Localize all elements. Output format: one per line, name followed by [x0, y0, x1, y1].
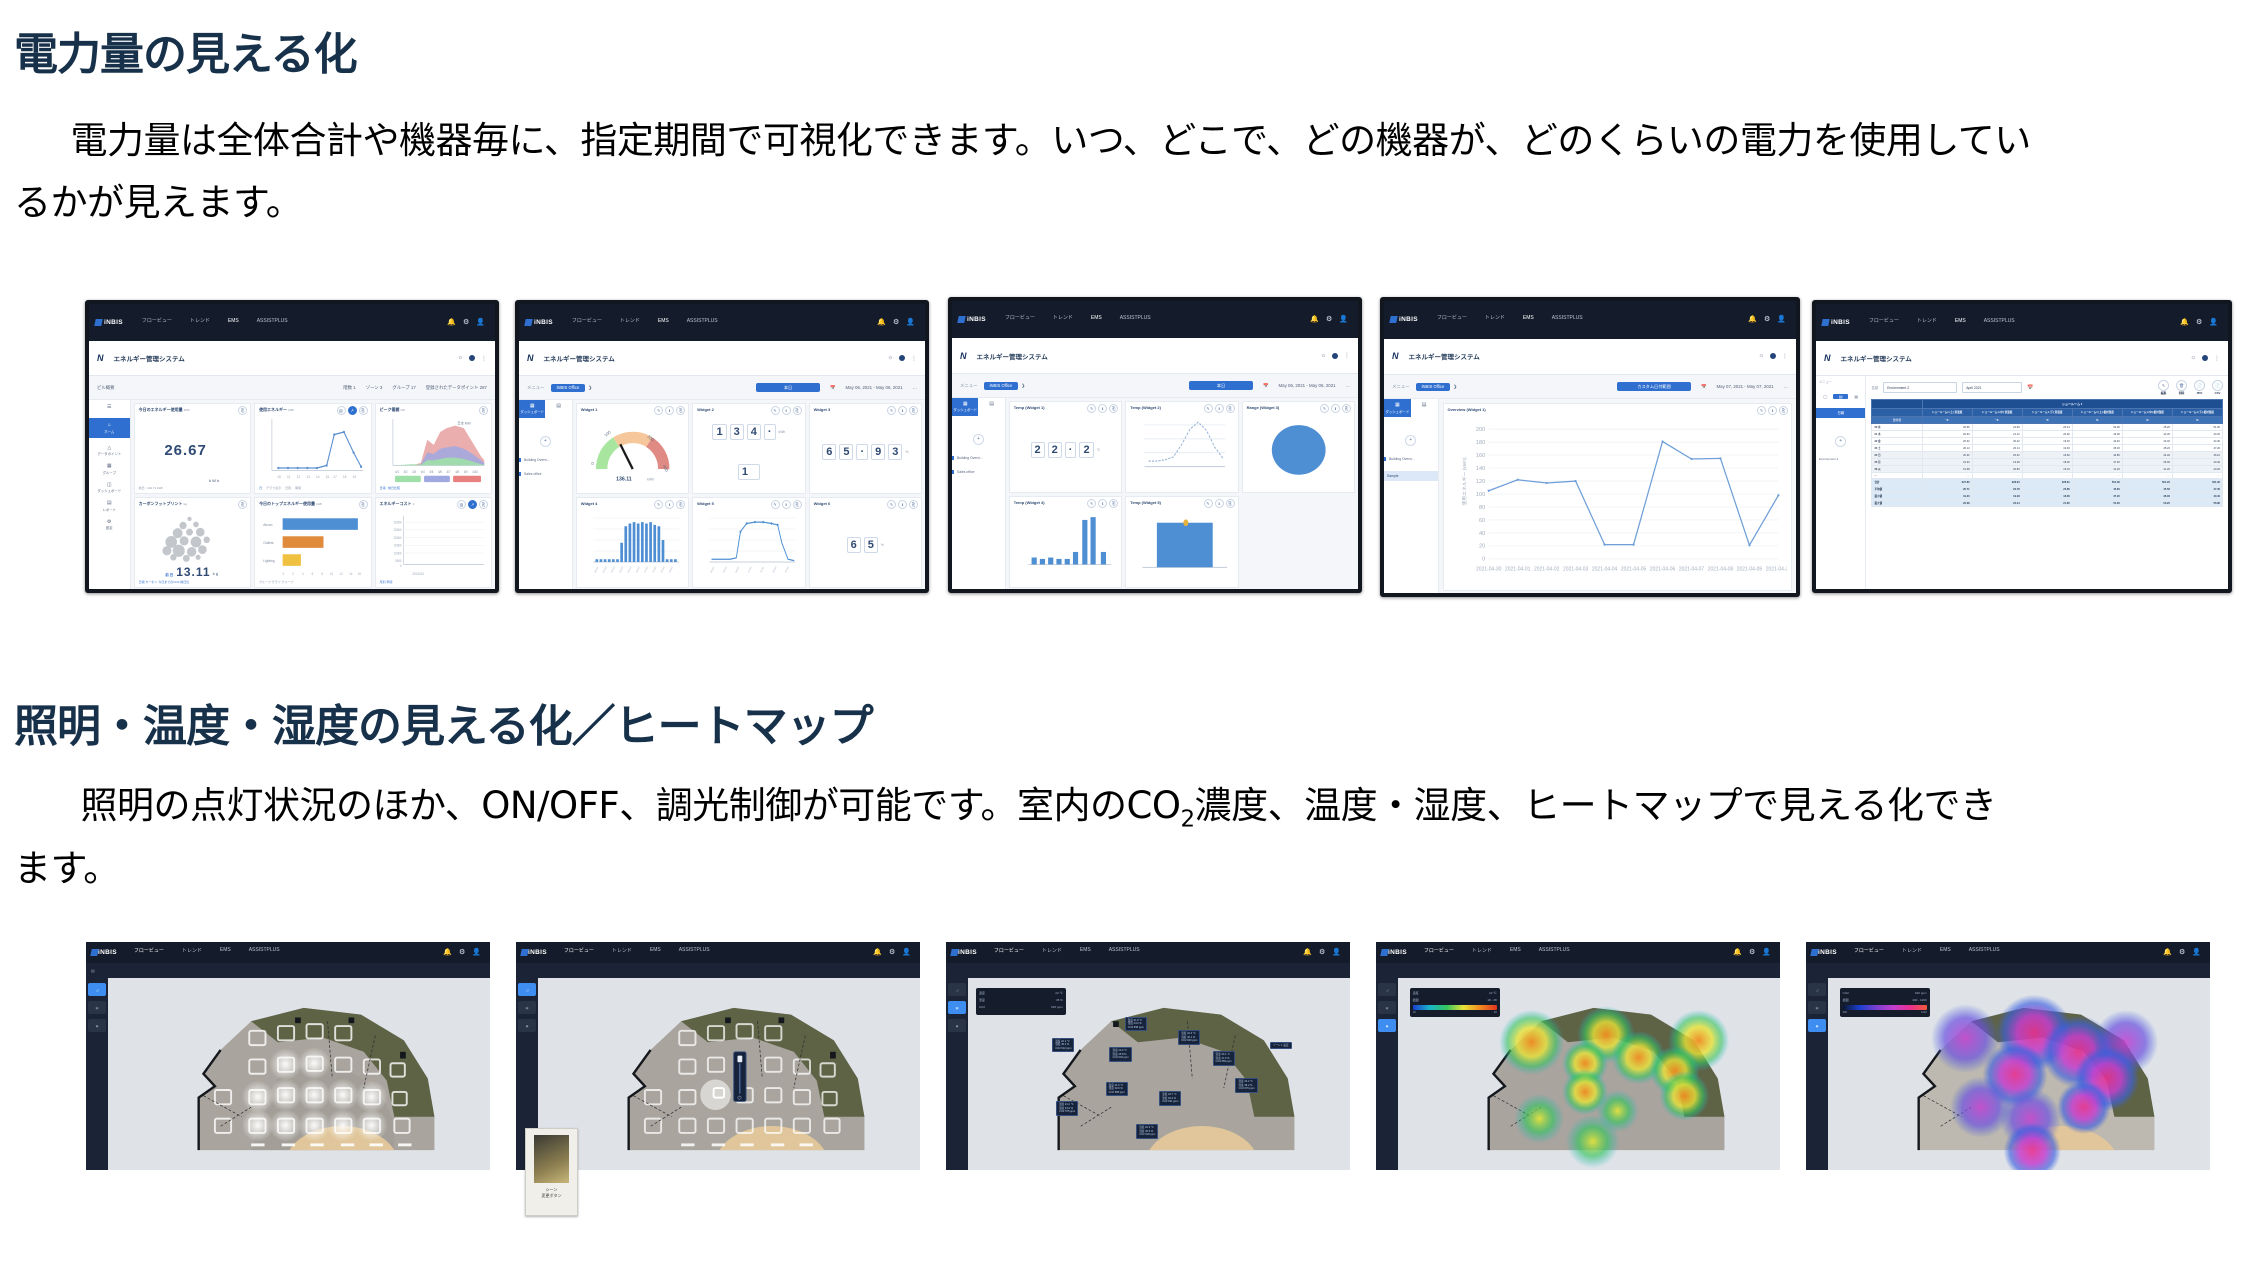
sidebar-item-sales-office[interactable]: Sales office [519, 472, 572, 476]
brand-mark-icon [1389, 316, 1397, 323]
nav-tab-flowview[interactable]: フロービュー [142, 317, 172, 328]
bell-icon[interactable]: 🔔 [877, 319, 886, 326]
sidebar-item-dashboard[interactable]: ◫ダッシュボード [97, 482, 121, 494]
rail-button-heatmap[interactable]: ◉ [948, 1019, 965, 1032]
calendar-icon[interactable]: 📅 [1263, 383, 1268, 389]
sidebar-item-menu[interactable]: ☰ [107, 404, 111, 411]
nav-tab-trend[interactable]: トレンド [1472, 947, 1492, 958]
sidebar-item-group[interactable]: ▦グループ [103, 463, 116, 475]
nav-tab-assistplus[interactable]: ASSISTPLUS [257, 318, 288, 328]
export-icon[interactable]: ⎘ [1226, 499, 1235, 508]
widget-5-line-chart: 00:0004:00 08:0012:00 16:0020:00 23:00 [697, 507, 800, 584]
sidebar-tab-dashboard[interactable]: ▦ダッシュボード [1384, 399, 1411, 417]
env-widget-5[interactable]: Temp (Widget 5) ✎ℹ⎘ [1125, 496, 1238, 588]
filter-bar: メニュー iNBIS Office ❯ 本日 📅 May 06, 2021 - … [519, 376, 925, 400]
rail-button-heatmap[interactable]: ◉ [1808, 1019, 1825, 1032]
sensor-tooltip[interactable]: 温度 21.8 ℃湿度 44.6 %CO2 598 ppm [1125, 1017, 1147, 1032]
rail-button-lighting[interactable]: ◿ [948, 983, 965, 996]
table-row: 25 月19.3319.2818.3637.2036.0040.40 [1872, 459, 2223, 466]
nav-tab-ems[interactable]: EMS [1523, 315, 1534, 325]
gear-icon[interactable]: ⚙ [2196, 319, 2202, 326]
sidebar-item-sales-office[interactable]: Sales office [952, 470, 1005, 474]
nav-tab-assistplus[interactable]: ASSISTPLUS [1539, 947, 1570, 957]
sidebar-tab-dashboard[interactable]: ▦ダッシュボード [952, 398, 978, 416]
sensor-tooltip[interactable]: 温度 22.3 ℃湿度 45.5 %CO2 618 ppm [1136, 1124, 1158, 1139]
nav-tab-assistplus[interactable]: ASSISTPLUS [249, 947, 280, 957]
card-top-energy-users[interactable]: 今日のトップエネルギー使用量 kWh ⎘ AirconOutletsLighti… [254, 497, 371, 588]
rail-button-sensors[interactable]: ▤ [948, 1001, 965, 1014]
section-2-body-line-1: 照明の点灯状況のほか、ON/OFF、調光制御が可能です。室内のCO2濃度、温度・… [44, 775, 1996, 850]
sidebar-item-building-overview[interactable]: Building Overvi... [1384, 457, 1438, 461]
bar-chart-icon[interactable]: ▧ [337, 406, 346, 415]
sensor-tooltip[interactable]: 温度 21.6 ℃湿度 43.9 %CO2 588 ppm [1106, 1082, 1128, 1097]
export-icon[interactable]: ⎘ [1342, 404, 1351, 413]
headset-icon[interactable] [1332, 353, 1338, 359]
period-chip[interactable]: 本日 [1189, 381, 1253, 390]
nav-tab-flowview[interactable]: フロービュー [994, 947, 1024, 958]
export-icon[interactable]: ⎘ [359, 406, 368, 415]
svg-text:2021/04: 2021/04 [412, 572, 424, 576]
nav-tab-trend[interactable]: トレンド [620, 317, 640, 328]
gear-icon[interactable]: ⚙ [893, 319, 899, 326]
export-icon[interactable]: ⎘ [1109, 404, 1118, 413]
kebab-icon[interactable]: ⋮ [911, 355, 917, 362]
nav-tab-ems[interactable]: EMS [1080, 947, 1091, 957]
floor-plan-canvas[interactable] [108, 978, 490, 1170]
widget-4[interactable]: Widget 4 ✎ℹ⎘ [576, 497, 689, 588]
info-icon[interactable]: ℹ [665, 500, 674, 509]
sensor-tooltip[interactable]: ゾーン 1 設定 [1270, 1042, 1292, 1050]
stat-zones: ゾーン 3 [366, 385, 383, 391]
svg-text:20000: 20000 [393, 536, 401, 540]
export-icon[interactable]: ⎘ [676, 500, 685, 509]
sidebar-tab-saved[interactable]: ▤ [545, 400, 571, 418]
nav-tab-ems[interactable]: EMS [1955, 318, 1966, 328]
svg-text:4/4: 4/4 [420, 470, 424, 474]
info-icon[interactable]: ℹ [898, 500, 907, 509]
user-icon[interactable]: 👤 [1762, 949, 1771, 956]
legend-key: 範囲 [1843, 998, 1849, 1002]
gear-icon[interactable]: ⚙ [1326, 316, 1332, 323]
line-chart-icon[interactable]: ↗ [348, 406, 357, 415]
widget-3[interactable]: Widget 3 ✎ℹ⎘ 6 5 · 9 3 % [809, 403, 922, 494]
svg-text:0: 0 [399, 564, 401, 568]
nav-tab-ems[interactable]: EMS [220, 947, 231, 957]
nav-tab-assistplus[interactable]: ASSISTPLUS [1969, 947, 2000, 957]
gear-icon[interactable]: ⚙ [1749, 949, 1755, 956]
digit: · [764, 424, 776, 440]
nav-tab-flowview[interactable]: フロービュー [564, 947, 594, 958]
svg-text:200: 200 [1475, 427, 1484, 433]
gear-icon[interactable]: ⚙ [889, 949, 895, 956]
chevron-right-icon[interactable]: ❯ [1021, 383, 1025, 389]
kebab-icon[interactable]: ⋮ [1344, 352, 1350, 359]
bell-icon[interactable]: ☼ [1759, 353, 1765, 359]
kebab-icon[interactable]: ⋮ [481, 355, 487, 362]
sensor-tooltip[interactable]: 温度 22.0 ℃湿度 45.8 %CO2 604 ppm [1109, 1047, 1131, 1062]
app-title: エネルギー管理システム [114, 353, 185, 363]
export-icon[interactable]: ⎘ [1109, 499, 1118, 508]
rail-button-sensors[interactable]: ▤ [518, 1001, 535, 1014]
nav-tab-assistplus[interactable]: ASSISTPLUS [1120, 315, 1151, 325]
rail-button-sensors[interactable]: ▤ [1378, 1001, 1395, 1014]
sensor-tooltip[interactable]: 温度 21.2 ℃湿度 43.0 %CO2 575 ppm [1056, 1101, 1078, 1116]
edit-icon[interactable]: ✎ [654, 406, 663, 415]
screenshot-heatmap-temperature[interactable]: iNBIS フロービュー トレンド EMS ASSISTPLUS 🔔⚙👤 ◿ ▤… [1376, 942, 1780, 1170]
edit-icon[interactable]: ✎ [654, 500, 663, 509]
sensor-tooltip[interactable]: 温度 22.1 ℃湿度 45.2 %CO2 612 ppm [1052, 1038, 1074, 1053]
sidebar-item-report[interactable]: ▤レポート [103, 500, 117, 512]
bell-icon[interactable]: 🔔 [873, 949, 882, 956]
legend-value: 400 - 1200 [1912, 998, 1926, 1002]
sidebar-tab-saved[interactable]: ▤ [1411, 399, 1438, 417]
pdf-button[interactable]: 📄PDF [2194, 380, 2205, 395]
nav-tab-ems[interactable]: EMS [658, 318, 669, 328]
report-tab-icon-2[interactable]: ▤ [1833, 394, 1847, 399]
widget-2[interactable]: Widget 2 ✎ℹ⎘ 1 3 4 · kWh 1 [692, 403, 805, 494]
edit-icon[interactable]: ✎ [1087, 499, 1096, 508]
nav-tab-flowview[interactable]: フロービュー [572, 317, 602, 328]
rail-button-lighting[interactable]: ◿ [518, 983, 535, 996]
edit-icon[interactable]: ✎ [771, 406, 780, 415]
bell-icon[interactable]: ☼ [2191, 355, 2197, 361]
card-today-energy[interactable]: 今日のエネルギー使用量 kWh ⎘ 26.67kWh 前日 : 134.71 k… [134, 403, 251, 494]
svg-text:18: 18 [343, 475, 347, 479]
report-table: ショールーム 1ショールーム1 (上) 室温度ショールーム1 (中) 室温度ショ… [1871, 399, 2223, 507]
env-widget-3[interactable]: Range (Widget 3) ✎ℹ⎘ [1242, 401, 1355, 493]
screenshot-lighting-plan[interactable]: iNBIS フロービュー トレンド EMS ASSISTPLUS 🔔⚙👤 ▤ ◿… [86, 942, 490, 1170]
more-icon[interactable]: … [1346, 383, 1350, 388]
edit-icon[interactable]: ✎ [887, 500, 896, 509]
calendar-icon[interactable]: 📅 [830, 385, 835, 391]
gear-icon[interactable]: ⚙ [463, 319, 469, 326]
floor-plan-canvas[interactable]: CO2620 ppm 範囲400 - 1200 400 1200 [1828, 978, 2210, 1170]
export-icon[interactable]: ⎘ [676, 406, 685, 415]
info-icon[interactable]: ℹ [1215, 499, 1224, 508]
info-icon[interactable]: ℹ [1098, 499, 1107, 508]
user-icon[interactable]: 👤 [1339, 316, 1348, 323]
nav-tab-assistplus[interactable]: ASSISTPLUS [1109, 947, 1140, 957]
nav-tab-flowview[interactable]: フロービュー [1854, 947, 1884, 958]
screenshot-overview-chart[interactable]: iNBIS フロービュー トレンド EMS ASSISTPLUS 🔔⚙👤 N エ… [1380, 297, 1800, 597]
nav-tab-flowview[interactable]: フロービュー [1005, 314, 1035, 325]
kebab-icon[interactable]: ⋮ [1782, 353, 1788, 360]
floor-plan-canvas[interactable]: 温度22 ℃ 範囲18 - 28 18 28 [1398, 978, 1780, 1170]
sidebar-item-building-overview[interactable]: Building Overvi... [519, 458, 572, 462]
bell-icon[interactable]: 🔔 [1303, 949, 1312, 956]
digit: 2 [1048, 442, 1062, 458]
user-icon[interactable]: 👤 [902, 949, 911, 956]
site-selector-chip[interactable]: iNBIS Office [551, 384, 586, 392]
user-icon[interactable]: 👤 [2209, 319, 2218, 326]
user-icon[interactable]: 👤 [472, 949, 481, 956]
gear-icon[interactable]: ⚙ [459, 949, 465, 956]
export-icon[interactable]: ⎘ [909, 406, 918, 415]
edit-button[interactable]: ✎編集 [2158, 380, 2169, 395]
rail-button-lighting[interactable]: ◿ [1378, 983, 1395, 996]
sensor-tooltip[interactable]: 温度 23.4 ℃湿度 48.2 %CO2 670 ppm [1235, 1078, 1257, 1093]
brand-text: iNBIS [1818, 949, 1837, 956]
brand-mark-icon [1380, 949, 1388, 956]
nav-tab-assistplus[interactable]: ASSISTPLUS [687, 318, 718, 328]
kebab-icon[interactable]: ⋮ [2214, 355, 2220, 362]
screenshot-sensor-values[interactable]: iNBIS フロービュー トレンド EMS ASSISTPLUS 🔔⚙👤 ◿ ▤… [946, 942, 1350, 1170]
headset-icon[interactable] [1770, 353, 1776, 359]
rail-button-sensors[interactable]: ▤ [88, 1001, 105, 1014]
card-peak-demand[interactable]: ピーク需要 kW ⎘ 日本 kWh 4/14/24/3 4/44/54/6 [375, 403, 492, 494]
export-icon[interactable]: ⎘ [1226, 404, 1235, 413]
env-widget-2[interactable]: Temp (Widget 2) ✎ℹ⎘ [1125, 401, 1238, 493]
card-footnote: 月別 年間 [380, 580, 393, 584]
sidebar-item-datapoint[interactable]: △データポイント [97, 445, 121, 457]
export-icon[interactable]: ⎘ [1779, 406, 1788, 415]
card-title: カーボンフットプリント kg [139, 501, 246, 507]
digit-unit: ℃ [1097, 448, 1101, 452]
sensor-tooltip[interactable]: 温度 23.1 ℃湿度 47.0 %CO2 655 ppm [1213, 1051, 1235, 1066]
widget-1-gauge: 0100 200400 136.11 kWh [581, 413, 684, 490]
gear-icon[interactable]: ⚙ [2179, 949, 2185, 956]
back-to-menu-link[interactable]: メニュー [1816, 376, 1865, 387]
nav-tab-ems[interactable]: EMS [1940, 947, 1951, 957]
scale-min: 18 [1413, 1011, 1416, 1014]
widget-6[interactable]: Widget 6 ✎ℹ⎘ 6 5 % [809, 497, 922, 588]
card-carbon-footprint[interactable]: カーボンフットプリント kg ⎘ 前日 [134, 497, 251, 588]
nav-tab-flowview[interactable]: フロービュー [1869, 317, 1899, 328]
edit-icon[interactable]: ✎ [1204, 404, 1213, 413]
rail-button-sensors[interactable]: ▤ [1808, 1001, 1825, 1014]
svg-text:6: 6 [312, 572, 314, 576]
bar-chart-icon[interactable]: ▧ [457, 500, 466, 509]
add-report-button[interactable]: + [1835, 436, 1846, 447]
csv-button[interactable]: 📄CSV [2212, 380, 2223, 395]
nav-tab-flowview[interactable]: フロービュー [1437, 314, 1467, 325]
sidebar-tab-dashboard[interactable]: ▦ダッシュボード [519, 400, 545, 418]
breadcrumb: ビル概要 [97, 385, 115, 391]
export-icon[interactable]: ⎘ [359, 500, 368, 509]
floor-plan-canvas[interactable]: 温度22 ℃ 湿度45 % CO2620 ppm 温度 22.1 ℃湿度 45.… [968, 978, 1350, 1170]
rail-button-heatmap[interactable]: ◉ [518, 1019, 535, 1032]
user-icon[interactable]: 👤 [906, 319, 915, 326]
gear-icon[interactable]: ⚙ [1764, 316, 1770, 323]
line-chart-icon[interactable]: ↗ [468, 500, 477, 509]
add-widget-button[interactable]: + [1405, 435, 1416, 446]
svg-text:2021-04-05: 2021-04-05 [1620, 567, 1646, 573]
nav-tab-trend[interactable]: トレンド [1485, 314, 1505, 325]
scene-change-button-popout[interactable]: シーン 変更ボタン [525, 1128, 578, 1216]
svg-text:140: 140 [1475, 466, 1484, 472]
bell-icon[interactable]: 🔔 [2180, 319, 2189, 326]
period-chip[interactable]: 本日 [756, 383, 820, 392]
bell-icon[interactable]: 🔔 [1310, 316, 1319, 323]
sidebar-item-environment-2[interactable]: Environment 2 [1816, 458, 1865, 462]
export-icon[interactable]: ⎘ [238, 406, 247, 415]
rail-button-heatmap[interactable]: ◉ [88, 1019, 105, 1032]
period-chip[interactable]: カスタム日付範囲 [1617, 382, 1691, 391]
svg-text:2021-04-09: 2021-04-09 [1736, 567, 1762, 573]
svg-text:08:00: 08:00 [735, 565, 740, 573]
nav-tab-flowview[interactable]: フロービュー [1424, 947, 1454, 958]
card-used-energy[interactable]: 使用エネルギー kWh ▧ ↗ ⎘ [254, 403, 371, 494]
legend-value: 18 - 28 [1487, 998, 1496, 1002]
add-widget-button[interactable]: + [973, 434, 984, 445]
more-icon[interactable]: … [1784, 384, 1788, 389]
nav-tab-ems[interactable]: EMS [1091, 315, 1102, 325]
overview-chart-card[interactable]: Overview (Widget 1) ✎ℹ⎘ 0204060801001201… [1443, 403, 1792, 591]
info-icon[interactable]: ℹ [1331, 404, 1340, 413]
scale-min: 400 [1843, 1011, 1847, 1014]
edit-icon[interactable]: ✎ [1757, 406, 1766, 415]
nav-tab-ems[interactable]: EMS [1510, 947, 1521, 957]
card-energy-cost[interactable]: エネルギーコスト ¥ ▧ ↗ ⎘ [375, 497, 492, 588]
nav-tab-trend[interactable]: トレンド [182, 947, 202, 958]
screenshot-widget-dashboard[interactable]: iNBIS フロービュー トレンド EMS ASSISTPLUS 🔔⚙👤 N エ… [515, 300, 929, 593]
card-footnote: 前日 : 134.71 kWh [139, 486, 164, 490]
export-icon[interactable]: ⎘ [238, 500, 247, 509]
export-icon[interactable]: ⎘ [793, 406, 802, 415]
export-icon[interactable]: ⎘ [909, 500, 918, 509]
report-tab-icon-3[interactable]: ▦ [1849, 394, 1863, 399]
sidebar-tab-saved[interactable]: ▤ [978, 398, 1004, 416]
today-energy-value: 26.67kWh [139, 414, 246, 486]
headset-icon[interactable] [899, 355, 905, 361]
bell-icon[interactable]: 🔔 [1748, 316, 1757, 323]
bell-icon[interactable]: 🔔 [443, 949, 452, 956]
screenshot-environment-dashboard[interactable]: iNBIS フロービュー トレンド EMS ASSISTPLUS 🔔⚙👤 N エ… [948, 297, 1362, 593]
export-icon[interactable]: ⎘ [793, 500, 802, 509]
user-icon[interactable]: 👤 [1777, 316, 1786, 323]
more-icon[interactable]: … [913, 385, 917, 390]
nav-tab-assistplus[interactable]: ASSISTPLUS [679, 947, 710, 957]
sidebar-item-building-overview[interactable]: Building Overvi... [952, 456, 1005, 460]
sensor-tooltip[interactable]: 温度 22.7 ℃湿度 46.4 %CO2 631 ppm [1159, 1091, 1181, 1106]
gear-icon[interactable]: ⚙ [1319, 949, 1325, 956]
svg-text:2021-04-03: 2021-04-03 [1562, 567, 1588, 573]
sensor-tooltip[interactable]: 温度 22.4 ℃湿度 46.1 %CO2 640 ppm [1178, 1030, 1200, 1045]
headset-icon[interactable] [2202, 355, 2208, 361]
nav-tab-trend[interactable]: トレンド [190, 317, 210, 328]
nav-tab-assistplus[interactable]: ASSISTPLUS [1552, 315, 1583, 325]
scale-max: 1200 [1921, 1011, 1927, 1014]
bell-icon[interactable]: ☼ [888, 355, 894, 361]
chevron-right-icon[interactable]: ❯ [588, 385, 592, 391]
edit-icon[interactable]: ✎ [771, 500, 780, 509]
delete-button[interactable]: 🗑削除 [2176, 380, 2187, 395]
calendar-icon[interactable]: 📅 [1701, 384, 1706, 390]
used-energy-line-chart: 101112 131415 171819 [259, 414, 366, 486]
carbon-value: 前日 13.11kg [139, 565, 246, 579]
digit: · [1065, 442, 1077, 458]
nav-tab-flowview[interactable]: フロービュー [134, 947, 164, 958]
nav-tab-trend[interactable]: トレンド [1053, 314, 1073, 325]
info-icon[interactable]: ℹ [898, 406, 907, 415]
edit-icon[interactable]: ✎ [1320, 404, 1329, 413]
nav-tab-ems[interactable]: EMS [650, 947, 661, 957]
digit: 1 [712, 424, 726, 440]
user-icon[interactable]: 👤 [476, 319, 485, 326]
bell-icon[interactable]: ☼ [1321, 353, 1327, 359]
nav-tab-trend[interactable]: トレンド [1902, 947, 1922, 958]
user-icon[interactable]: 👤 [2192, 949, 2201, 956]
rail-button-lighting[interactable]: ◿ [1808, 983, 1825, 996]
rail-button-heatmap[interactable]: ◉ [1378, 1019, 1395, 1032]
svg-text:17: 17 [333, 475, 337, 479]
sidebar-item-daily-report[interactable]: 日報 [1816, 408, 1865, 418]
bell-icon[interactable]: 🔔 [2163, 949, 2172, 956]
edit-icon[interactable]: ✎ [887, 406, 896, 415]
nav-tab-trend[interactable]: トレンド [1917, 317, 1937, 328]
info-icon[interactable]: ℹ [782, 406, 791, 415]
info-icon[interactable]: ℹ [1768, 406, 1777, 415]
site-selector-chip[interactable]: iNBIS Office [1416, 383, 1451, 391]
svg-text:4/3: 4/3 [412, 470, 416, 474]
env-widget-4[interactable]: Temp (Widget 4) ✎ℹ⎘ [1009, 496, 1122, 588]
widget-1[interactable]: Widget 1 ✎ℹ⎘ 0100 200400 136.11 [576, 403, 689, 494]
screenshot-heatmap-co2[interactable]: iNBIS フロービュー トレンド EMS ASSISTPLUS 🔔⚙👤 ◿ ▤… [1806, 942, 2210, 1170]
screenshot-report-table[interactable]: iNBIS フロービュー トレンド EMS ASSISTPLUS 🔔⚙👤 N エ… [1812, 300, 2232, 593]
edit-icon[interactable]: ✎ [1087, 404, 1096, 413]
app-title: エネルギー管理システム [977, 351, 1048, 361]
card-link-day[interactable]: 日 [259, 486, 262, 490]
rail-button-lighting[interactable]: ◿ [88, 983, 105, 996]
nav-tab-assistplus[interactable]: ASSISTPLUS [1984, 318, 2015, 328]
sidebar-item-sample[interactable]: Sample [1384, 471, 1438, 481]
nav-tab-trend[interactable]: トレンド [1042, 947, 1062, 958]
headset-icon[interactable] [469, 355, 475, 361]
environment-input[interactable] [1883, 382, 1957, 393]
svg-text:14:00: 14:00 [652, 565, 657, 573]
edit-icon[interactable]: ✎ [1204, 499, 1213, 508]
report-tab-icon-1[interactable]: ◯ [1818, 394, 1832, 399]
info-icon[interactable]: ℹ [665, 406, 674, 415]
month-input[interactable] [1962, 382, 2022, 393]
card-footnote: 日報 : 前日比較 [380, 486, 401, 490]
nav-tab-ems[interactable]: EMS [228, 318, 239, 328]
digit: 4 [747, 424, 761, 440]
add-widget-button[interactable]: + [540, 436, 551, 447]
info-icon[interactable]: ℹ [782, 500, 791, 509]
bell-icon[interactable]: ☼ [458, 355, 464, 361]
bell-icon[interactable]: 🔔 [447, 319, 456, 326]
bell-icon[interactable]: 🔔 [1733, 949, 1742, 956]
chevron-right-icon[interactable]: ❯ [1453, 384, 1457, 390]
back-to-menu-link[interactable]: メニュー [960, 383, 978, 389]
svg-text:25000: 25000 [393, 528, 401, 532]
stat-floors: 階数 1 [343, 385, 355, 391]
widget-5[interactable]: Widget 5 ✎ℹ⎘ [692, 497, 805, 588]
export-icon[interactable]: ⎘ [479, 406, 488, 415]
export-icon[interactable]: ⎘ [479, 500, 488, 509]
svg-text:4/10: 4/10 [472, 470, 478, 474]
brand-text: iNBIS [528, 949, 547, 956]
nav-tab-trend[interactable]: トレンド [612, 947, 632, 958]
legend-value: 22 ℃ [1055, 991, 1063, 995]
user-icon[interactable]: 👤 [1332, 949, 1341, 956]
sidebar-item-settings[interactable]: ⚙設定 [106, 519, 113, 531]
site-selector-chip[interactable]: iNBIS Office [984, 382, 1019, 390]
env-widget-1[interactable]: Temp (Widget 1) ✎ℹ⎘ 2 2 · 2 ℃ [1009, 401, 1122, 493]
calendar-icon[interactable]: 📅 [2027, 385, 2033, 391]
back-to-menu-link[interactable]: メニュー [1392, 384, 1410, 390]
screenshot-ems-home[interactable]: iNBIS フロービュー トレンド EMS ASSISTPLUS 🔔 ⚙ 👤 N… [85, 300, 499, 593]
legend-value: 45 % [1056, 998, 1063, 1002]
svg-text:14: 14 [349, 572, 352, 576]
info-icon[interactable]: ℹ [1215, 404, 1224, 413]
back-to-menu-link[interactable]: メニュー [527, 385, 545, 391]
floor-plan-canvas[interactable]: ⏻ [538, 978, 920, 1170]
info-icon[interactable]: ℹ [1098, 404, 1107, 413]
sidebar-item-home[interactable]: ⌂ホーム [89, 418, 130, 438]
svg-text:0: 0 [591, 461, 594, 466]
